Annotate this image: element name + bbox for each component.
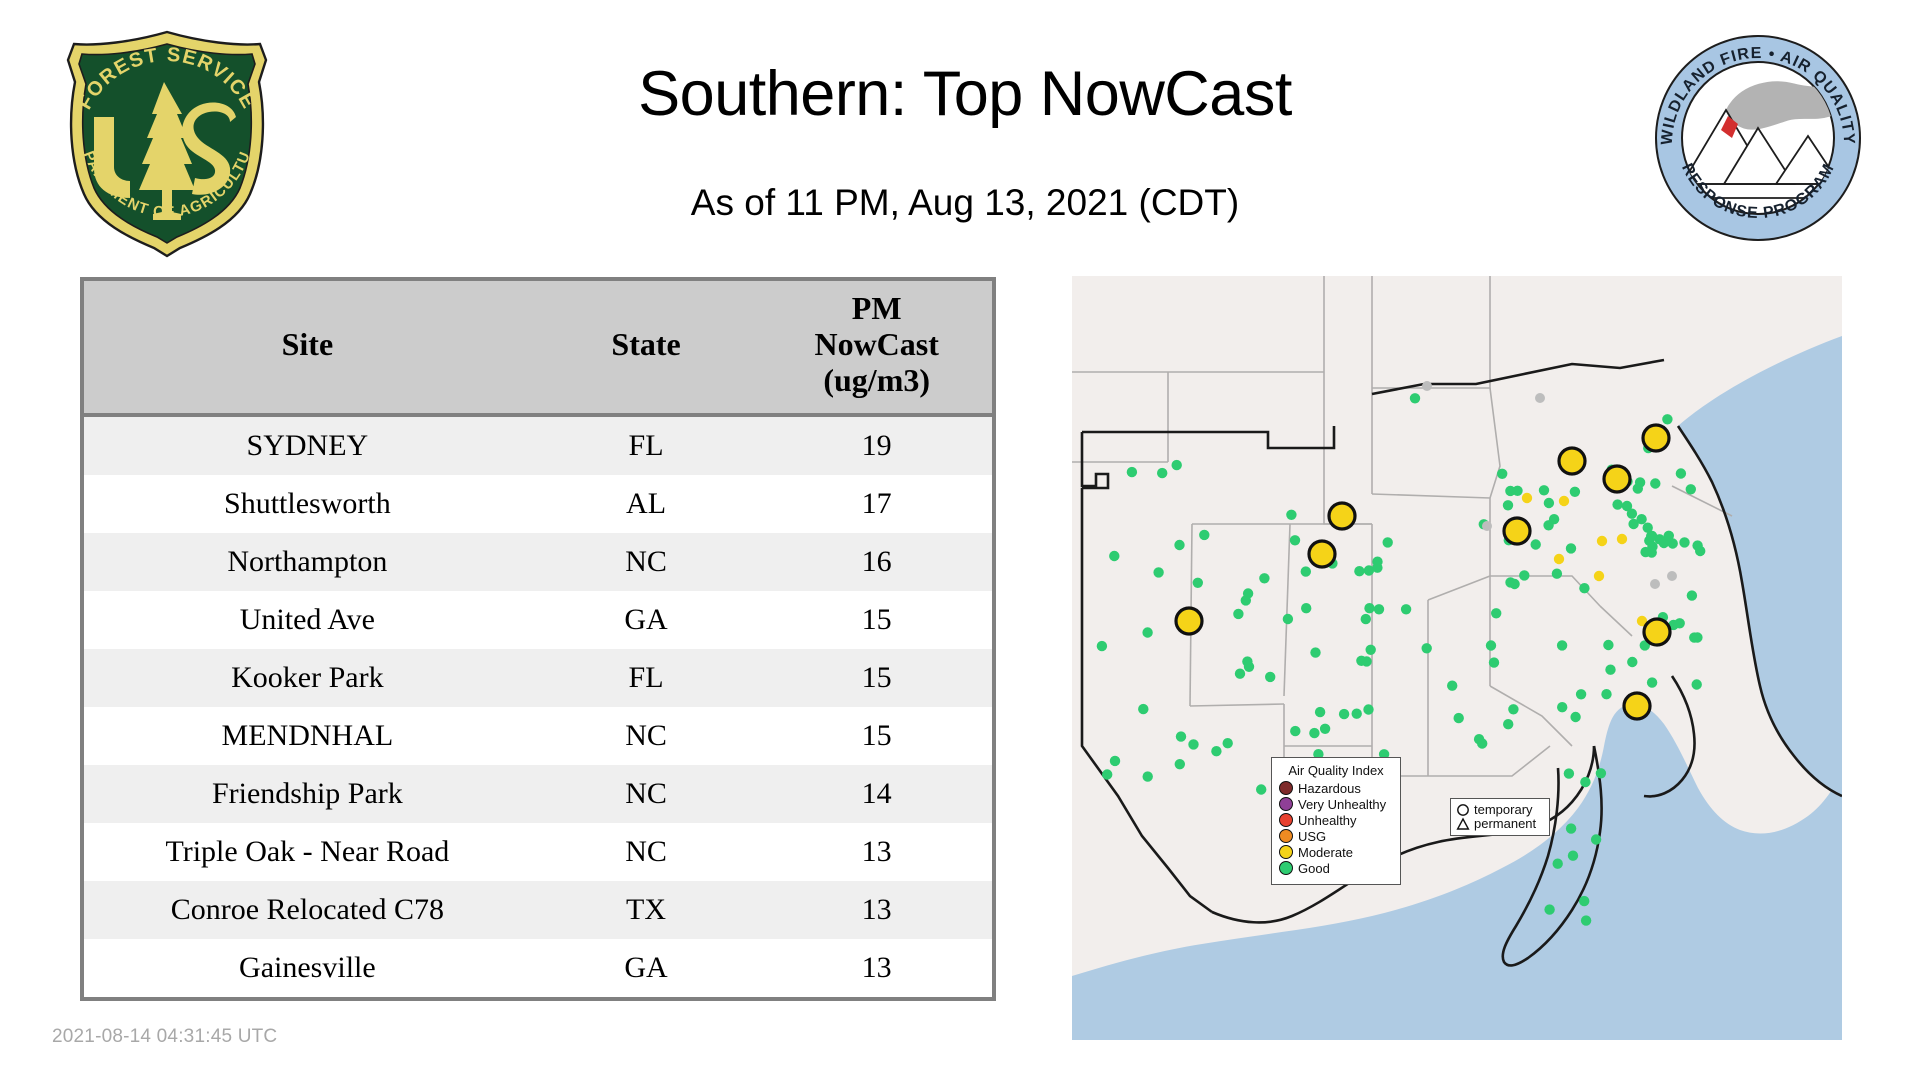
map-monitor-dot-good[interactable] — [1447, 681, 1457, 691]
site-cell: Friendship Park — [84, 765, 531, 823]
map-monitor-dot-good[interactable] — [1497, 469, 1507, 479]
aqi-legend-item-usg: USG — [1279, 829, 1393, 843]
pm-nowcast-cell: 15 — [761, 707, 992, 765]
map-monitor-dot-good[interactable] — [1640, 547, 1650, 557]
map-monitor-dot-good[interactable] — [1301, 603, 1311, 613]
map-monitor-dot-good[interactable] — [1364, 565, 1374, 575]
map-monitor-dot-good[interactable] — [1109, 551, 1119, 561]
map-monitor-dot-nodata[interactable] — [1482, 521, 1492, 531]
map-monitor-dot-good[interactable] — [1176, 731, 1186, 741]
map-monitor-dot-good[interactable] — [1605, 665, 1615, 675]
aqi-legend: Air Quality Index HazardousVery Unhealth… — [1271, 757, 1401, 885]
map-monitor-dot-good[interactable] — [1233, 609, 1243, 619]
map-monitor-dot-nodata[interactable] — [1667, 571, 1677, 581]
map-monitor-dot-good[interactable] — [1290, 726, 1300, 736]
map-monitor-dot-good[interactable] — [1627, 509, 1637, 519]
aqi-color-swatch — [1279, 813, 1293, 827]
state-cell: NC — [531, 533, 762, 591]
marker-legend-item-permanent: permanent — [1456, 817, 1544, 831]
map-monitor-dot-moderate[interactable] — [1554, 554, 1564, 564]
map-monitor-dot-good[interactable] — [1509, 579, 1519, 589]
map-monitor-dot-good[interactable] — [1612, 499, 1622, 509]
table-row: ShuttlesworthAL17 — [84, 475, 992, 533]
aqi-legend-label: Very Unhealthy — [1298, 798, 1386, 811]
map-monitor-dot-good[interactable] — [1695, 546, 1705, 556]
table-row: SYDNEYFL19 — [84, 415, 992, 475]
map-monitor-dot-good[interactable] — [1157, 468, 1167, 478]
aqi-legend-item-hazardous: Hazardous — [1279, 781, 1393, 795]
column-header-state: State — [531, 281, 762, 415]
map-top-site-marker[interactable] — [1176, 608, 1202, 634]
map-top-site-marker[interactable] — [1309, 541, 1335, 567]
map-monitor-dot-good[interactable] — [1174, 540, 1184, 550]
aqi-legend-item-unhealthy: Unhealthy — [1279, 813, 1393, 827]
site-cell: MENDNHAL — [84, 707, 531, 765]
map-monitor-dot-good[interactable] — [1356, 656, 1366, 666]
map-monitor-dot-good[interactable] — [1505, 486, 1515, 496]
map-monitor-dot-good[interactable] — [1244, 662, 1254, 672]
pm-header-line3: (ug/m3) — [761, 363, 992, 399]
map-monitor-dot-good[interactable] — [1241, 595, 1251, 605]
map-monitor-dot-good[interactable] — [1664, 531, 1674, 541]
map-monitor-dot-good[interactable] — [1579, 583, 1589, 593]
map-monitor-dot-moderate[interactable] — [1617, 534, 1627, 544]
map-monitor-dot-good[interactable] — [1566, 823, 1576, 833]
map-monitor-dot-good[interactable] — [1633, 483, 1643, 493]
pm-nowcast-cell: 17 — [761, 475, 992, 533]
map-monitor-dot-good[interactable] — [1364, 603, 1374, 613]
aqi-color-swatch — [1279, 845, 1293, 859]
pm-header-line1: PM — [761, 291, 992, 327]
pm-nowcast-cell: 19 — [761, 415, 992, 475]
map-monitor-dot-good[interactable] — [1544, 904, 1554, 914]
map-monitor-dot-good[interactable] — [1199, 530, 1209, 540]
map-monitor-dot-good[interactable] — [1259, 573, 1269, 583]
map-monitor-dot-good[interactable] — [1603, 640, 1613, 650]
map-monitor-dot-good[interactable] — [1320, 724, 1330, 734]
table-row: Triple Oak - Near RoadNC13 — [84, 823, 992, 881]
aqi-color-swatch — [1279, 861, 1293, 875]
aqi-legend-item-moderate: Moderate — [1279, 845, 1393, 859]
column-header-pm-nowcast: PM NowCast (ug/m3) — [761, 281, 992, 415]
table-row: MENDNHALNC15 — [84, 707, 992, 765]
map-monitor-dot-good[interactable] — [1301, 566, 1311, 576]
state-cell: NC — [531, 707, 762, 765]
marker-type-legend: temporary permanent — [1450, 798, 1550, 836]
table-row: United AveGA15 — [84, 591, 992, 649]
map-monitor-dot-good[interactable] — [1564, 768, 1574, 778]
map-monitor-dot-good[interactable] — [1566, 543, 1576, 553]
map-monitor-dot-good[interactable] — [1422, 643, 1432, 653]
state-cell: FL — [531, 649, 762, 707]
map-monitor-dot-moderate[interactable] — [1522, 493, 1532, 503]
map-top-site-marker[interactable] — [1644, 619, 1670, 645]
map-monitor-dot-good[interactable] — [1339, 709, 1349, 719]
table-row: Kooker ParkFL15 — [84, 649, 992, 707]
table-row: Friendship ParkNC14 — [84, 765, 992, 823]
map-monitor-dot-good[interactable] — [1675, 618, 1685, 628]
map-monitor-dot-good[interactable] — [1410, 393, 1420, 403]
aqi-legend-label: Good — [1298, 862, 1330, 875]
state-cell: GA — [531, 591, 762, 649]
state-cell: NC — [531, 823, 762, 881]
table-row: GainesvilleGA13 — [84, 939, 992, 997]
site-cell: Kooker Park — [84, 649, 531, 707]
map-monitor-dot-good[interactable] — [1486, 640, 1496, 650]
map-monitor-dot-good[interactable] — [1503, 719, 1513, 729]
map-monitor-dot-good[interactable] — [1662, 414, 1672, 424]
aqi-legend-item-good: Good — [1279, 861, 1393, 875]
map-monitor-dot-good[interactable] — [1576, 689, 1586, 699]
site-cell: Shuttlesworth — [84, 475, 531, 533]
circle-icon — [1456, 803, 1470, 817]
wildland-fire-air-quality-response-program-logo: WILDLAND FIRE • AIR QUALITY RESPONSE PRO… — [1652, 32, 1864, 244]
column-header-site: Site — [84, 281, 531, 415]
map-monitor-dot-good[interactable] — [1692, 679, 1702, 689]
map-monitor-dot-good[interactable] — [1188, 739, 1198, 749]
table-header-row: Site State PM NowCast (ug/m3) — [84, 281, 992, 415]
map-monitor-dot-moderate[interactable] — [1559, 496, 1569, 506]
map-monitor-dot-good[interactable] — [1491, 608, 1501, 618]
pm-nowcast-cell: 15 — [761, 649, 992, 707]
map-monitor-dot-good[interactable] — [1235, 669, 1245, 679]
map-monitor-dot-good[interactable] — [1383, 537, 1393, 547]
aqi-legend-label: Moderate — [1298, 846, 1353, 859]
map-monitor-dot-good[interactable] — [1601, 689, 1611, 699]
southern-region-aqi-map[interactable] — [1072, 276, 1842, 1040]
map-monitor-dot-good[interactable] — [1310, 647, 1320, 657]
map-monitor-dot-good[interactable] — [1175, 759, 1185, 769]
map-top-site-marker[interactable] — [1329, 503, 1355, 529]
map-monitor-dot-good[interactable] — [1286, 510, 1296, 520]
map-monitor-dot-good[interactable] — [1097, 641, 1107, 651]
map-monitor-dot-good[interactable] — [1539, 485, 1549, 495]
map-monitor-dot-good[interactable] — [1581, 915, 1591, 925]
state-cell: GA — [531, 939, 762, 997]
render-timestamp: 2021-08-14 04:31:45 UTC — [52, 1026, 277, 1048]
state-cell: NC — [531, 765, 762, 823]
state-cell: TX — [531, 881, 762, 939]
map-monitor-dot-nodata[interactable] — [1535, 393, 1545, 403]
map-monitor-dot-good[interactable] — [1143, 771, 1153, 781]
map-monitor-dot-good[interactable] — [1290, 535, 1300, 545]
map-monitor-dot-good[interactable] — [1643, 523, 1653, 533]
pm-nowcast-cell: 13 — [761, 881, 992, 939]
marker-legend-label-temporary: temporary — [1474, 803, 1533, 817]
site-cell: Northampton — [84, 533, 531, 591]
map-monitor-dot-good[interactable] — [1686, 484, 1696, 494]
map-monitor-dot-good[interactable] — [1591, 834, 1601, 844]
site-cell: United Ave — [84, 591, 531, 649]
map-monitor-dot-good[interactable] — [1361, 614, 1371, 624]
aqi-legend-label: Unhealthy — [1298, 814, 1357, 827]
marker-legend-label-permanent: permanent — [1474, 817, 1536, 831]
map-monitor-dot-good[interactable] — [1627, 657, 1637, 667]
pm-nowcast-cell: 13 — [761, 939, 992, 997]
map-monitor-dot-good[interactable] — [1256, 784, 1266, 794]
map-monitor-dot-good[interactable] — [1687, 590, 1697, 600]
map-monitor-dot-good[interactable] — [1211, 746, 1221, 756]
aqi-color-swatch — [1279, 797, 1293, 811]
page-title: Southern: Top NowCast — [300, 58, 1630, 130]
map-monitor-dot-good[interactable] — [1454, 713, 1464, 723]
map-monitor-dot-good[interactable] — [1315, 707, 1325, 717]
map-monitor-dot-nodata[interactable] — [1650, 579, 1660, 589]
map-monitor-dot-moderate[interactable] — [1597, 536, 1607, 546]
map-monitor-dot-good[interactable] — [1692, 632, 1702, 642]
triangle-icon — [1456, 817, 1470, 831]
aqi-legend-label: Hazardous — [1298, 782, 1361, 795]
map-monitor-dot-good[interactable] — [1172, 460, 1182, 470]
map-monitor-dot-good[interactable] — [1570, 487, 1580, 497]
map-monitor-dot-good[interactable] — [1596, 768, 1606, 778]
map-monitor-dot-good[interactable] — [1531, 539, 1541, 549]
site-cell: SYDNEY — [84, 415, 531, 475]
map-monitor-dot-good[interactable] — [1552, 569, 1562, 579]
map-monitor-dot-good[interactable] — [1557, 702, 1567, 712]
table-row: NorthamptonNC16 — [84, 533, 992, 591]
state-cell: AL — [531, 475, 762, 533]
map-monitor-dot-good[interactable] — [1543, 520, 1553, 530]
map-monitor-dot-good[interactable] — [1265, 672, 1275, 682]
usfs-shield-logo: FOREST SERVICE DEPARTMENT OF AGRICULTURE — [52, 22, 282, 260]
map-monitor-dot-good[interactable] — [1477, 738, 1487, 748]
map-monitor-dot-nodata[interactable] — [1422, 381, 1432, 391]
map-top-site-marker[interactable] — [1643, 425, 1669, 451]
map-monitor-dot-good[interactable] — [1142, 627, 1152, 637]
map-monitor-dot-good[interactable] — [1363, 704, 1373, 714]
top-nowcast-table: Site State PM NowCast (ug/m3) SYDNEYFL19… — [80, 277, 996, 1001]
map-monitor-dot-good[interactable] — [1309, 728, 1319, 738]
site-cell: Triple Oak - Near Road — [84, 823, 531, 881]
map-monitor-dot-good[interactable] — [1503, 500, 1513, 510]
pm-nowcast-cell: 13 — [761, 823, 992, 881]
map-monitor-dot-good[interactable] — [1568, 851, 1578, 861]
map-monitor-dot-good[interactable] — [1223, 738, 1233, 748]
pm-nowcast-cell: 14 — [761, 765, 992, 823]
map-monitor-dot-good[interactable] — [1647, 677, 1657, 687]
site-cell: Conroe Relocated C78 — [84, 881, 531, 939]
table-row: Conroe Relocated C78TX13 — [84, 881, 992, 939]
map-monitor-dot-good[interactable] — [1283, 614, 1293, 624]
aqi-color-swatch — [1279, 781, 1293, 795]
map-monitor-dot-good[interactable] — [1352, 709, 1362, 719]
map-monitor-dot-good[interactable] — [1372, 557, 1382, 567]
map-monitor-dot-good[interactable] — [1519, 570, 1529, 580]
site-cell: Gainesville — [84, 939, 531, 997]
map-monitor-dot-moderate[interactable] — [1594, 571, 1604, 581]
map-monitor-dot-good[interactable] — [1544, 498, 1554, 508]
map-monitor-dot-good[interactable] — [1110, 756, 1120, 766]
map-monitor-dot-good[interactable] — [1127, 467, 1137, 477]
pm-nowcast-cell: 16 — [761, 533, 992, 591]
pm-header-line2: NowCast — [761, 327, 992, 363]
aqi-legend-item-very-unhealthy: Very Unhealthy — [1279, 797, 1393, 811]
pm-nowcast-cell: 15 — [761, 591, 992, 649]
map-monitor-dot-good[interactable] — [1557, 640, 1567, 650]
map-monitor-dot-good[interactable] — [1153, 567, 1163, 577]
map-monitor-dot-good[interactable] — [1570, 712, 1580, 722]
map-top-site-marker[interactable] — [1559, 448, 1585, 474]
aqi-legend-title: Air Quality Index — [1279, 763, 1393, 778]
map-monitor-dot-good[interactable] — [1636, 514, 1646, 524]
aqi-legend-label: USG — [1298, 830, 1326, 843]
map-monitor-dot-good[interactable] — [1401, 604, 1411, 614]
map-monitor-dot-good[interactable] — [1508, 704, 1518, 714]
map-monitor-dot-good[interactable] — [1366, 645, 1376, 655]
map-monitor-dot-good[interactable] — [1553, 859, 1563, 869]
marker-legend-item-temporary: temporary — [1456, 803, 1544, 817]
map-monitor-dot-good[interactable] — [1580, 777, 1590, 787]
state-cell: FL — [531, 415, 762, 475]
map-monitor-dot-good[interactable] — [1489, 657, 1499, 667]
map-monitor-dot-good[interactable] — [1650, 478, 1660, 488]
map-monitor-dot-good[interactable] — [1138, 704, 1148, 714]
map-monitor-dot-good[interactable] — [1354, 566, 1364, 576]
map-monitor-dot-good[interactable] — [1193, 578, 1203, 588]
map-monitor-dot-good[interactable] — [1102, 769, 1112, 779]
page-subtitle: As of 11 PM, Aug 13, 2021 (CDT) — [300, 182, 1630, 224]
map-monitor-dot-good[interactable] — [1676, 468, 1686, 478]
aqi-color-swatch — [1279, 829, 1293, 843]
map-top-site-marker[interactable] — [1504, 518, 1530, 544]
map-monitor-dot-good[interactable] — [1374, 604, 1384, 614]
map-monitor-dot-good[interactable] — [1679, 537, 1689, 547]
map-top-site-marker[interactable] — [1624, 693, 1650, 719]
map-monitor-dot-good[interactable] — [1579, 896, 1589, 906]
map-top-site-marker[interactable] — [1604, 466, 1630, 492]
